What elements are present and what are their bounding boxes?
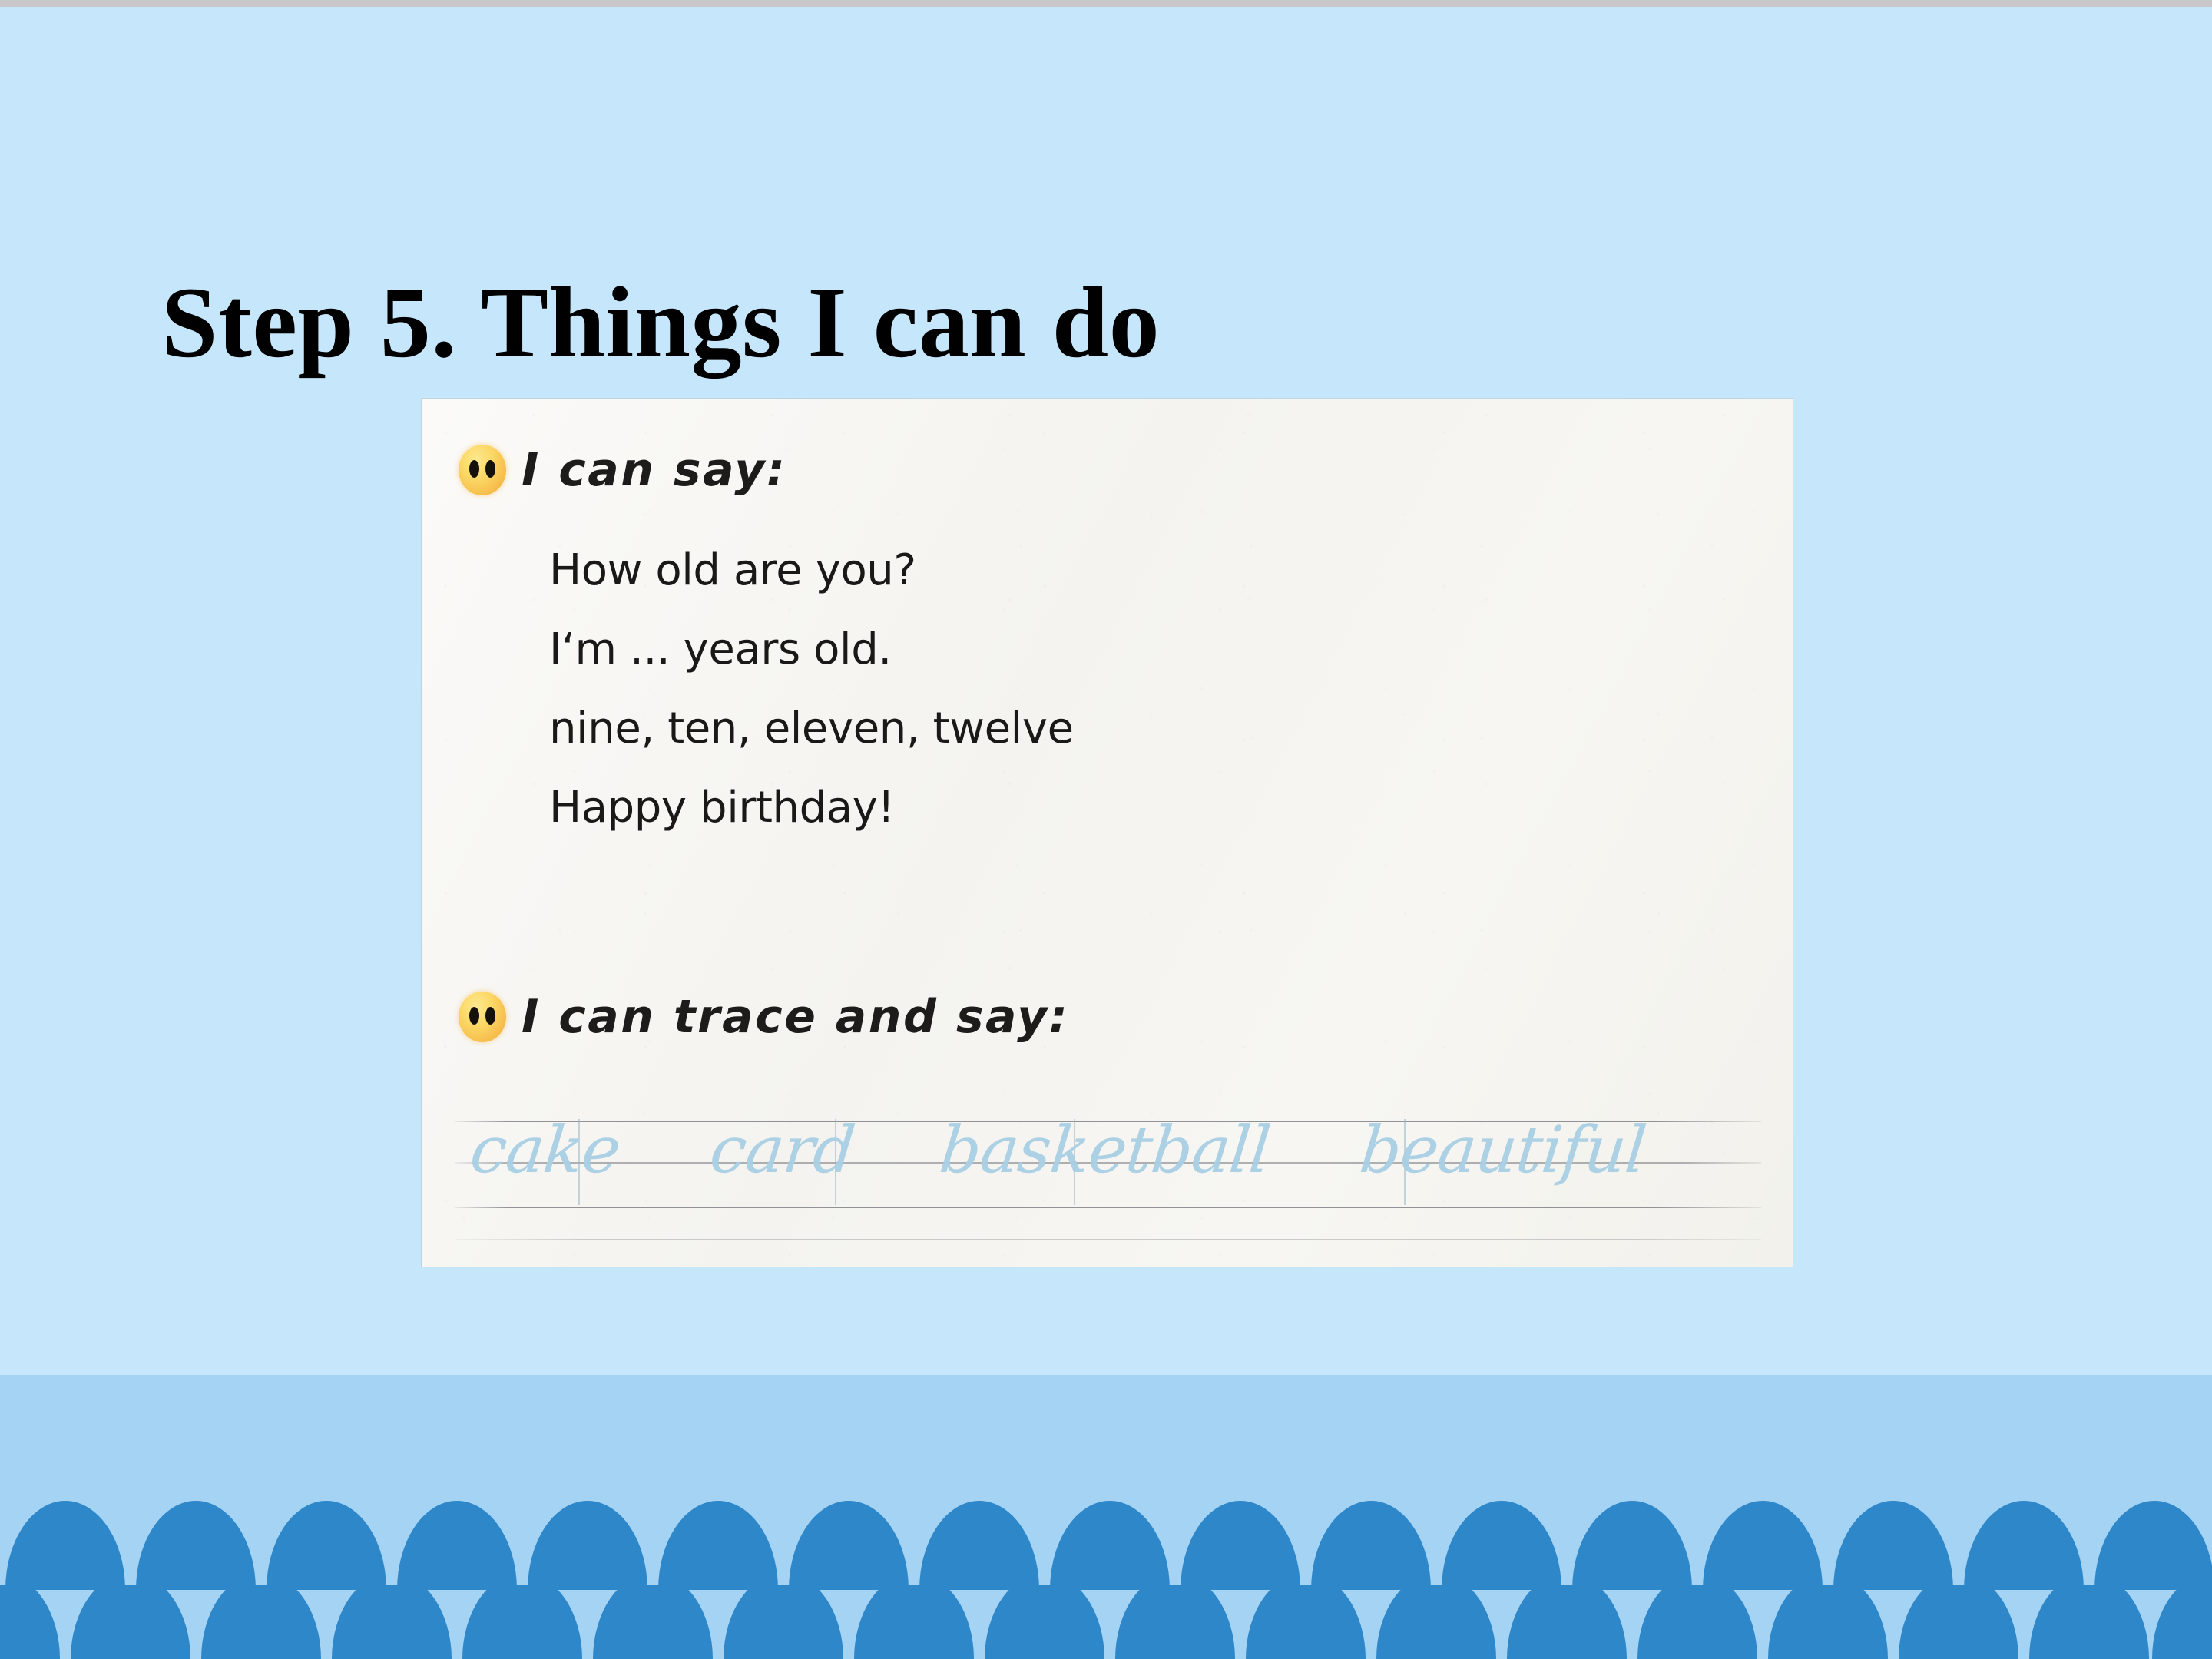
rule-line-extra <box>455 1239 1761 1240</box>
worksheet-card: I can say: How old are you? I‘m ... year… <box>422 399 1793 1267</box>
phrase-line: I‘m ... years old. <box>549 628 1074 671</box>
phrase-line: Happy birthday! <box>549 786 1074 829</box>
slide-canvas: Step 5. Things I can do I can say: How o… <box>0 0 2212 1659</box>
tracing-area: cake card basketball beautiful <box>455 1116 1761 1243</box>
phrase-line: How old are you? <box>549 549 1074 592</box>
page-title: Step 5. Things I can do <box>161 269 1851 376</box>
smiley-eye-right-icon <box>485 460 495 478</box>
smiley-eye-right-icon <box>485 1007 495 1025</box>
section-heading-i-can-say: I can say: <box>459 443 786 497</box>
rule-line-bottom <box>455 1207 1761 1208</box>
smiley-eye-left-icon <box>469 1007 479 1025</box>
top-edge-strip <box>0 0 2212 7</box>
section-label-i-can-say: I can say: <box>522 443 786 497</box>
trace-word: cake <box>468 1118 624 1182</box>
trace-word: card <box>707 1118 857 1182</box>
smiley-face-icon <box>459 445 506 495</box>
phrase-line: nine, ten, eleven, twelve <box>549 707 1074 750</box>
phrase-list: How old are you? I‘m ... years old. nine… <box>549 549 1074 866</box>
section-heading-i-can-trace-and-say: I can trace and say: <box>459 990 1069 1044</box>
section-label-i-can-trace-and-say: I can trace and say: <box>522 990 1069 1044</box>
trace-word: basketball <box>936 1118 1273 1182</box>
scallop-arch-row-back <box>0 1499 2212 1590</box>
smiley-eye-left-icon <box>469 460 479 478</box>
trace-word: beautiful <box>1356 1118 1648 1182</box>
scallop-arch-row-front <box>0 1585 2212 1659</box>
trace-word-list: cake card basketball beautiful <box>462 1118 1767 1182</box>
smiley-face-icon <box>459 992 506 1042</box>
